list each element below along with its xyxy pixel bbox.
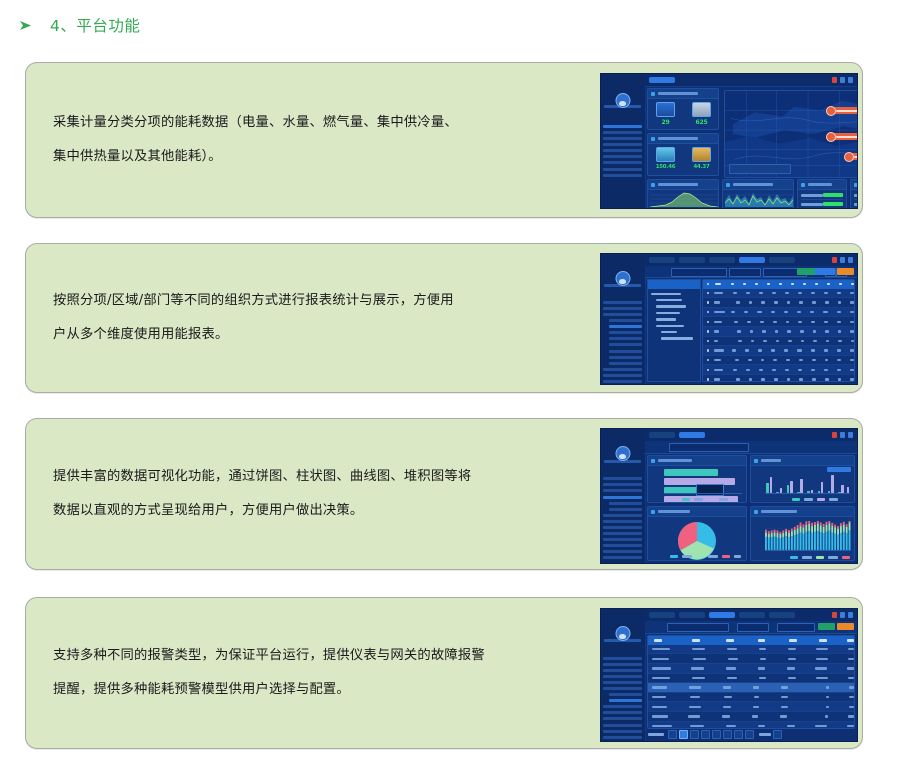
load-curve-chart — [650, 191, 718, 207]
stacked-bar-panel — [750, 506, 855, 561]
reset-button[interactable] — [837, 268, 854, 275]
tree-node[interactable] — [651, 335, 697, 341]
page-5[interactable] — [723, 730, 732, 739]
table-row[interactable] — [703, 346, 854, 356]
energy-report-table-screenshot[interactable] — [600, 253, 858, 385]
chart-legend — [670, 555, 741, 558]
type-select[interactable] — [729, 268, 761, 277]
feature-line: 数据以直观的方式呈现给用户，方便用户做出决策。 — [53, 494, 573, 528]
print-button[interactable] — [817, 268, 835, 275]
mini-sidebar — [601, 429, 646, 563]
load-curve-panel — [647, 179, 719, 209]
window-controls[interactable] — [832, 257, 853, 262]
table-header-row — [703, 280, 854, 289]
table-row[interactable] — [648, 654, 854, 664]
energy-icon — [656, 147, 675, 162]
mini-sidebar — [601, 74, 646, 208]
search-button[interactable] — [818, 623, 835, 630]
table-row[interactable] — [648, 702, 854, 712]
table-header-row — [648, 636, 854, 645]
chart-tooltip — [696, 484, 724, 496]
feature-text-visualization: 提供丰富的数据可视化功能，通过饼图、柱状图、曲线图、堆积图等将 数据以直观的方式… — [53, 460, 573, 528]
table-row[interactable] — [648, 674, 854, 684]
pagination[interactable] — [648, 730, 782, 739]
pie-panel — [647, 506, 747, 561]
level-select[interactable] — [737, 623, 769, 632]
avatar — [615, 446, 630, 461]
feature-card-collection: 采集计量分类分项的能耗数据（电量、水量、燃气量、集中供冷量、 集中供热量以及其他… — [25, 62, 863, 218]
meter-icon — [656, 102, 675, 117]
feature-text-report: 按照分项/区域/部门等不同的组织方式进行报表统计与展示，方便用 户从多个维度使用… — [53, 284, 573, 352]
stat-water: 625 — [688, 102, 716, 127]
alarm-filter-bar[interactable] — [645, 621, 857, 634]
feature-line: 提供丰富的数据可视化功能，通过饼图、柱状图、曲线图、堆积图等将 — [53, 460, 573, 494]
page-6[interactable] — [734, 730, 743, 739]
mini-nav — [603, 125, 642, 205]
section-heading: 4、平台功能 — [0, 8, 906, 42]
stat-heat: 44.37 — [688, 147, 716, 171]
chart-legend — [790, 556, 855, 559]
mini-sidebar — [601, 254, 646, 384]
mini-tabs[interactable] — [649, 432, 705, 438]
feature-line: 提醒，提供多种能耗预警模型供用户选择与配置。 — [53, 673, 573, 707]
summary-panel-b — [850, 179, 858, 209]
table-row[interactable] — [703, 356, 854, 366]
arrow-right-triangle-icon — [14, 20, 36, 31]
feature-card-visualization: 提供丰富的数据可视化功能，通过饼图、柱状图、曲线图、堆积图等将 数据以直观的方式… — [25, 418, 863, 570]
map-legend — [729, 164, 791, 174]
dimension-select[interactable] — [669, 443, 749, 452]
table-body[interactable] — [703, 289, 854, 381]
page-title: 4、平台功能 — [50, 14, 140, 36]
heat-icon — [692, 147, 711, 162]
page-size-select[interactable] — [773, 730, 782, 739]
x-axis — [765, 493, 850, 494]
clear-button[interactable] — [837, 623, 854, 630]
feature-line: 集中供热量以及其他能耗）。 — [53, 140, 573, 174]
table-row[interactable] — [648, 664, 854, 674]
org-tree[interactable] — [647, 279, 701, 382]
realtime-trend-chart — [725, 191, 793, 207]
realtime-trend-panel — [722, 179, 794, 209]
stat-gas: 150.46 — [652, 147, 680, 171]
summary-list — [801, 191, 843, 209]
table-row[interactable] — [703, 289, 854, 299]
filter-bar[interactable] — [645, 441, 857, 454]
mini-nav — [603, 657, 642, 739]
avatar — [615, 93, 630, 108]
map-pin-label[interactable] — [833, 133, 858, 140]
feature-list-page: 4、平台功能 采集计量分类分项的能耗数据（电量、水量、燃气量、集中供冷量、 集中… — [0, 0, 906, 764]
feature-card-alarm: 支持多种不同的报警类型，为保证平台运行，提供仪表与网关的故障报警 提醒，提供多种… — [25, 597, 863, 749]
map-panel[interactable] — [724, 90, 858, 178]
keyword-input[interactable] — [777, 623, 815, 632]
feature-text-collection: 采集计量分类分项的能耗数据（电量、水量、燃气量、集中供冷量、 集中供热量以及其他… — [53, 106, 573, 174]
table-row[interactable] — [703, 317, 854, 327]
feature-line: 采集计量分类分项的能耗数据（电量、水量、燃气量、集中供冷量、 — [53, 106, 573, 140]
window-controls[interactable] — [832, 612, 853, 617]
table-row[interactable] — [648, 722, 854, 729]
mini-sidebar — [601, 609, 646, 741]
window-controls[interactable] — [832, 432, 853, 438]
page-4[interactable] — [712, 730, 721, 739]
table-row[interactable] — [703, 308, 854, 318]
table-row[interactable] — [648, 712, 854, 722]
feature-line: 支持多种不同的报警类型，为保证平台运行，提供仪表与网关的故障报警 — [53, 639, 573, 673]
table-row[interactable] — [648, 693, 854, 703]
horizontal-bar-panel — [647, 455, 747, 503]
energy-dashboard-screenshot[interactable]: 29 625 150.46 — [600, 73, 858, 209]
mini-nav — [603, 301, 642, 382]
summary-panel-a — [797, 179, 847, 209]
mini-nav — [603, 477, 642, 560]
map-pin-label[interactable] — [833, 107, 858, 114]
avatar — [615, 626, 630, 641]
bar-series-current — [664, 469, 719, 476]
table-row-selected[interactable] — [648, 683, 854, 693]
stat-electricity: 29 — [652, 102, 680, 127]
table-row[interactable] — [703, 365, 854, 375]
avatar — [615, 271, 630, 286]
x-axis — [765, 550, 851, 551]
summary-list — [854, 191, 858, 209]
stacked-bar-chart — [765, 521, 851, 550]
x-axis — [664, 493, 742, 494]
table-row[interactable] — [703, 375, 854, 382]
page-prev[interactable] — [668, 730, 677, 739]
window-controls[interactable] — [832, 77, 853, 83]
report-table[interactable] — [702, 279, 855, 382]
table-body[interactable] — [648, 645, 854, 728]
vertical-bar-panel — [750, 455, 855, 503]
alarm-type-select[interactable] — [667, 623, 729, 632]
page-3[interactable] — [701, 730, 710, 739]
export-button[interactable] — [797, 268, 815, 275]
report-toolbar[interactable] — [645, 266, 857, 278]
table-row[interactable] — [703, 298, 854, 308]
org-select[interactable] — [671, 268, 727, 277]
feature-line: 户从多个维度使用用能报表。 — [53, 318, 573, 352]
table-row[interactable] — [648, 645, 854, 655]
feature-text-alarm: 支持多种不同的报警类型，为保证平台运行，提供仪表与网关的故障报警 提醒，提供多种… — [53, 639, 573, 707]
alarm-table[interactable] — [647, 635, 855, 729]
page-2[interactable] — [690, 730, 699, 739]
page-1[interactable] — [679, 730, 688, 739]
stat-panel-power: 29 625 — [647, 88, 719, 130]
tree-header — [648, 280, 700, 289]
chart-legend — [792, 498, 838, 501]
pagination-total — [648, 733, 664, 736]
chart-legend — [682, 498, 728, 501]
mini-tabs[interactable] — [649, 77, 675, 83]
map-pin-label[interactable] — [851, 153, 858, 160]
mini-tabs[interactable] — [649, 612, 795, 617]
chart-action-button[interactable] — [827, 467, 851, 472]
table-row[interactable] — [703, 327, 854, 337]
page-size-label — [759, 733, 771, 736]
page-next[interactable] — [745, 730, 754, 739]
table-row[interactable] — [703, 337, 854, 347]
mini-tabs[interactable] — [649, 257, 795, 262]
feature-line: 按照分项/区域/部门等不同的组织方式进行报表统计与展示，方便用 — [53, 284, 573, 318]
feature-card-report: 按照分项/区域/部门等不同的组织方式进行报表统计与展示，方便用 户从多个维度使用… — [25, 243, 863, 393]
alarm-list-screenshot[interactable] — [600, 608, 858, 742]
gateway-icon — [692, 102, 711, 117]
stat-panel-energy: 150.46 44.37 — [647, 133, 719, 176]
data-visualization-screenshot[interactable] — [600, 428, 858, 564]
